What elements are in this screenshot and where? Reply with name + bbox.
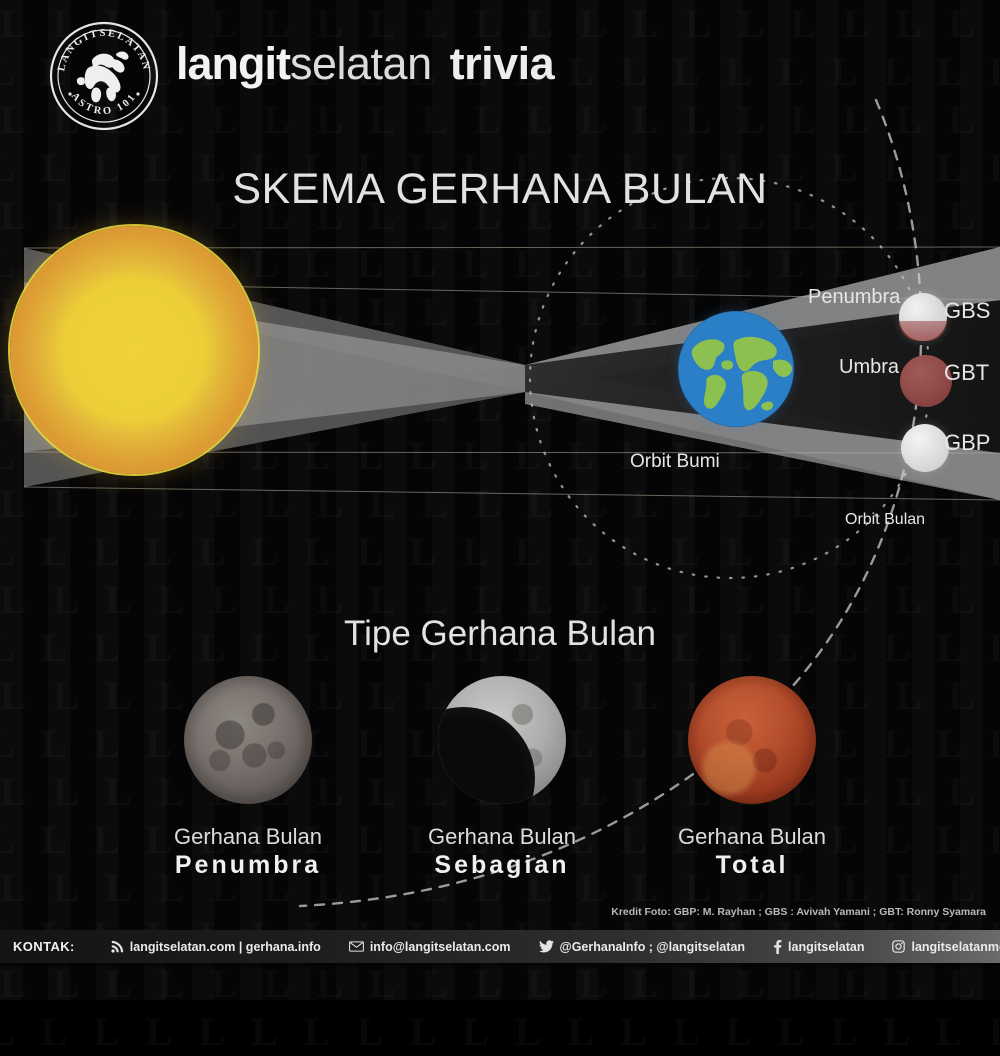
rider-horse-glyph [77, 51, 129, 102]
footer-item-text: langitselatan.com | gerhana.info [130, 940, 321, 954]
caption-line-1: Gerhana Bulan [622, 824, 882, 850]
caption-line-2: Sebagian [372, 851, 632, 880]
svg-text:ASTRO 101: ASTRO 101 [69, 91, 139, 118]
envelope-icon [349, 940, 364, 953]
brand-bold: langit [176, 38, 290, 89]
moon-photo-partial-icon [438, 676, 566, 804]
earth-body [678, 311, 794, 427]
moon-marker-gbp [901, 424, 949, 472]
label-gbp: GBP [944, 430, 990, 456]
brand-title: langitselatantrivia [176, 38, 554, 90]
label-gbt: GBT [944, 360, 989, 386]
label-umbra: Umbra [839, 356, 899, 379]
footer-contact-bar: KONTAK: langitselatan.com | gerhana.info… [0, 930, 1000, 963]
eclipse-type-caption: Gerhana Bulan Sebagian [372, 824, 632, 880]
page-title: SKEMA GERHANA BULAN [0, 165, 1000, 214]
footer-item-text: info@langitselatan.com [370, 940, 511, 954]
footer-item-twitter[interactable]: @GerhanaInfo ; @langitselatan [525, 940, 760, 954]
brand-suffix: trivia [450, 38, 555, 89]
rss-icon [111, 940, 124, 953]
eclipse-type-caption: Gerhana Bulan Total [622, 824, 882, 880]
label-penumbra: Penumbra [808, 286, 900, 309]
eclipse-type-penumbra: Gerhana Bulan Penumbra [118, 676, 378, 880]
label-gbs: GBS [944, 298, 990, 324]
footer-item-text: langitselatanmedia [911, 940, 1000, 954]
langitselatan-logo-icon: LANGITSELATAN ASTRO 101 [48, 20, 160, 132]
moon-marker-gbs [899, 293, 947, 341]
footer-item-facebook[interactable]: langitselatan [759, 940, 878, 954]
label-orbit-bumi: Orbit Bumi [630, 451, 720, 473]
sun-body [10, 226, 258, 474]
brand-light: selatan [290, 38, 432, 89]
facebook-icon [773, 940, 782, 954]
footer-item-text: langitselatan [788, 940, 864, 954]
eclipse-type-total: Gerhana Bulan Total [622, 676, 882, 880]
footer-item-website[interactable]: langitselatan.com | gerhana.info [97, 940, 335, 954]
header: LANGITSELATAN ASTRO 101 langitselatantri… [0, 0, 1000, 140]
eclipse-types-row: Gerhana Bulan Penumbra Gerhana Bulan Seb… [0, 676, 1000, 876]
moon-photo-penumbral-icon [184, 676, 312, 804]
footer-item-instagram[interactable]: langitselatanmedia [878, 940, 1000, 954]
footer-shadow [0, 963, 1000, 970]
caption-line-2: Total [622, 851, 882, 880]
moon-photo-total-icon [688, 676, 816, 804]
types-section-title: Tipe Gerhana Bulan [0, 614, 1000, 654]
caption-line-1: Gerhana Bulan [118, 824, 378, 850]
instagram-icon [892, 940, 905, 953]
footer-item-text: @GerhanaInfo ; @langitselatan [560, 940, 746, 954]
footer-item-email[interactable]: info@langitselatan.com [335, 940, 525, 954]
caption-line-2: Penumbra [118, 851, 378, 880]
label-orbit-bulan: Orbit Bulan [845, 511, 925, 529]
eclipse-type-sebagian: Gerhana Bulan Sebagian [372, 676, 632, 880]
photo-credit: Kredit Foto: GBP: M. Rayhan ; GBS : Aviv… [611, 906, 986, 918]
caption-line-1: Gerhana Bulan [372, 824, 632, 850]
twitter-icon [539, 940, 554, 953]
eclipse-type-caption: Gerhana Bulan Penumbra [118, 824, 378, 880]
footer-kontak-label: KONTAK: [0, 939, 97, 954]
